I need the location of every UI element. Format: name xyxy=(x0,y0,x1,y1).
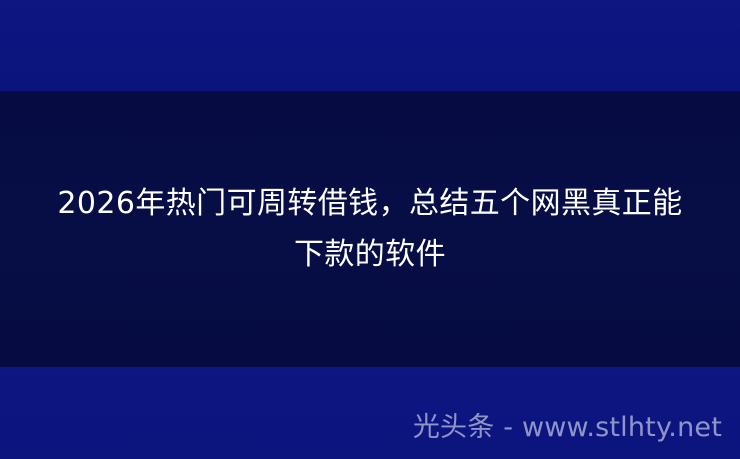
title-container: 2026年热门可周转借钱，总结五个网黑真正能下款的软件 xyxy=(0,91,740,367)
top-color-band xyxy=(0,0,740,91)
page-title: 2026年热门可周转借钱，总结五个网黑真正能下款的软件 xyxy=(46,178,694,280)
article-title-card: 2026年热门可周转借钱，总结五个网黑真正能下款的软件 光头条 - www.st… xyxy=(0,0,740,459)
watermark-label: 光头条 - www.stlhty.net xyxy=(413,413,722,443)
